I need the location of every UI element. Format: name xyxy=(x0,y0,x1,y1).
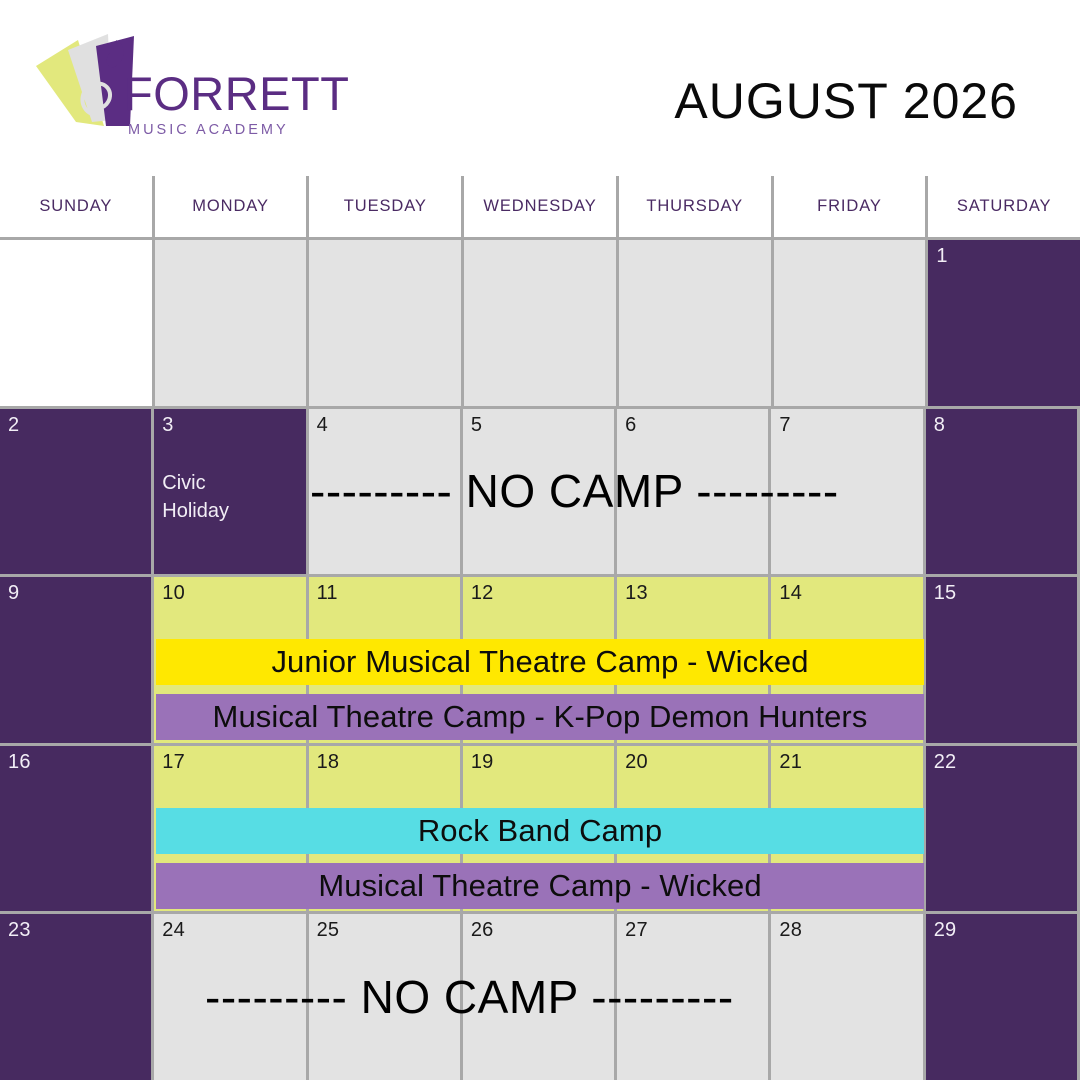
day-number: 5 xyxy=(471,415,614,435)
day-cell-29[interactable]: 29 xyxy=(926,914,1080,1080)
day-number: 25 xyxy=(317,920,460,940)
camp-event-bar[interactable]: Musical Theatre Camp - K-Pop Demon Hunte… xyxy=(156,694,924,740)
day-cell-16[interactable]: 16 xyxy=(0,746,154,912)
calendar-week-row: 16171819202122Rock Band CampMusical Thea… xyxy=(0,743,1080,912)
day-header-friday: FRIDAY xyxy=(774,176,929,237)
camp-event-bar[interactable]: Rock Band Camp xyxy=(156,808,924,854)
day-number: 14 xyxy=(779,583,922,603)
day-cell-1[interactable]: 1 xyxy=(928,240,1080,406)
day-number: 10 xyxy=(162,583,305,603)
day-number: 1 xyxy=(936,246,1080,266)
day-number: 8 xyxy=(934,415,1077,435)
day-cell-empty[interactable] xyxy=(155,240,310,406)
day-cell-empty[interactable] xyxy=(619,240,774,406)
day-cell-24[interactable]: 24 xyxy=(154,914,308,1080)
brand-name: FORRETT xyxy=(124,70,334,117)
day-cell-empty[interactable] xyxy=(0,240,155,406)
day-cell-26[interactable]: 26 xyxy=(463,914,617,1080)
day-number: 11 xyxy=(317,583,460,603)
day-cell-8[interactable]: 8 xyxy=(926,409,1080,575)
day-cell-5[interactable]: 5 xyxy=(463,409,617,575)
day-cell-empty[interactable] xyxy=(464,240,619,406)
day-cell-empty[interactable] xyxy=(774,240,929,406)
day-of-week-header-row: SUNDAYMONDAYTUESDAYWEDNESDAYTHURSDAYFRID… xyxy=(0,176,1080,237)
day-cell-4[interactable]: 4 xyxy=(309,409,463,575)
day-cell-23[interactable]: 23 xyxy=(0,914,154,1080)
brand-wordmark: FORRETT MUSIC ACADEMY xyxy=(124,70,334,138)
day-header-monday: MONDAY xyxy=(155,176,310,237)
day-number: 12 xyxy=(471,583,614,603)
day-cell-9[interactable]: 9 xyxy=(0,577,154,743)
calendar-grid: SUNDAYMONDAYTUESDAYWEDNESDAYTHURSDAYFRID… xyxy=(0,176,1080,1080)
day-cell-6[interactable]: 6 xyxy=(617,409,771,575)
day-cell-25[interactable]: 25 xyxy=(309,914,463,1080)
day-header-sunday: SUNDAY xyxy=(0,176,155,237)
day-number: 15 xyxy=(934,583,1077,603)
day-header-saturday: SATURDAY xyxy=(928,176,1080,237)
day-cell-empty[interactable] xyxy=(309,240,464,406)
day-number: 2 xyxy=(8,415,151,435)
day-number: 7 xyxy=(779,415,922,435)
day-number: 17 xyxy=(162,752,305,772)
calendar-week-row: 9101112131415Junior Musical Theatre Camp… xyxy=(0,574,1080,743)
day-number: 20 xyxy=(625,752,768,772)
day-number: 23 xyxy=(8,920,151,940)
day-header-tuesday: TUESDAY xyxy=(309,176,464,237)
camp-event-bar[interactable]: Musical Theatre Camp - Wicked xyxy=(156,863,924,909)
day-number: 18 xyxy=(317,752,460,772)
day-number: 19 xyxy=(471,752,614,772)
day-cell-7[interactable]: 7 xyxy=(771,409,925,575)
day-number: 16 xyxy=(8,752,151,772)
day-number: 29 xyxy=(934,920,1077,940)
camp-event-bar[interactable]: Junior Musical Theatre Camp - Wicked xyxy=(156,639,924,685)
day-number: 26 xyxy=(471,920,614,940)
day-cell-15[interactable]: 15 xyxy=(926,577,1080,743)
calendar-week-row: 1 xyxy=(0,237,1080,406)
day-header-wednesday: WEDNESDAY xyxy=(464,176,619,237)
day-number: 3 xyxy=(162,415,305,435)
day-number: 6 xyxy=(625,415,768,435)
page-header: FORRETT MUSIC ACADEMY AUGUST 2026 xyxy=(0,0,1080,178)
calendar-week-row: 23242526272829--------- NO CAMP --------… xyxy=(0,911,1080,1080)
day-number: 4 xyxy=(317,415,460,435)
day-number: 21 xyxy=(779,752,922,772)
brand-tagline: MUSIC ACADEMY xyxy=(128,122,334,138)
calendar-weeks: 123CivicHoliday45678--------- NO CAMP --… xyxy=(0,237,1080,1080)
day-number: 27 xyxy=(625,920,768,940)
day-number: 22 xyxy=(934,752,1077,772)
brand-logo: FORRETT MUSIC ACADEMY xyxy=(30,22,320,140)
day-header-thursday: THURSDAY xyxy=(619,176,774,237)
day-number: 9 xyxy=(8,583,151,603)
day-cell-22[interactable]: 22 xyxy=(926,746,1080,912)
calendar-page: FORRETT MUSIC ACADEMY AUGUST 2026 SUNDAY… xyxy=(0,0,1080,1080)
calendar-week-row: 23CivicHoliday45678--------- NO CAMP ---… xyxy=(0,406,1080,575)
page-title: AUGUST 2026 xyxy=(674,72,1018,130)
day-cell-27[interactable]: 27 xyxy=(617,914,771,1080)
day-number: 24 xyxy=(162,920,305,940)
day-cell-28[interactable]: 28 xyxy=(771,914,925,1080)
day-number: 28 xyxy=(779,920,922,940)
day-cell-3[interactable]: 3CivicHoliday xyxy=(154,409,308,575)
day-note: CivicHoliday xyxy=(162,469,282,526)
day-cell-2[interactable]: 2 xyxy=(0,409,154,575)
day-number: 13 xyxy=(625,583,768,603)
